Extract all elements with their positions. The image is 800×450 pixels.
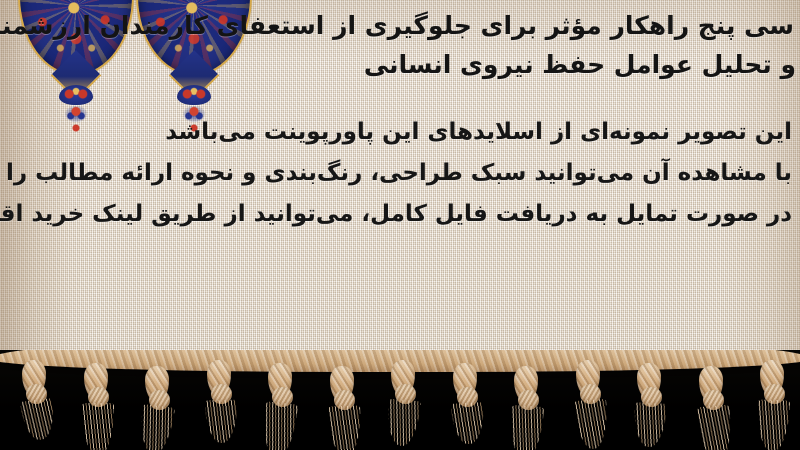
fringe-tassel: [508, 366, 548, 450]
fringe-tassel: [570, 360, 610, 446]
body-line-2: با مشاهده آن می‌توانید سبک طراحی، رنگ‌بن…: [4, 153, 792, 194]
slide-title: سی پنج راهکار مؤثر برای جلوگیری از استعف…: [0, 6, 796, 84]
fringe-tassel: [16, 360, 56, 446]
tassel-strands: [328, 405, 362, 450]
tassel-strands: [260, 401, 298, 450]
slide-body-text: این تصویر نمونه‌ای از اسلایدهای این پاور…: [4, 112, 792, 235]
slide-canvas: سی پنج راهکار مؤثر برای جلوگیری از استعف…: [0, 0, 800, 450]
fringe-tassel: [201, 360, 241, 446]
tassel-strands: [574, 399, 609, 450]
fringe-tassel: [262, 363, 302, 449]
tassel-strands: [451, 402, 485, 445]
fringe-tassel: [754, 360, 794, 446]
ornament-pendant-large-icon: [177, 85, 211, 105]
body-line-1: این تصویر نمونه‌ای از اسلایدهای این پاور…: [4, 112, 792, 153]
title-line-2: و تحلیل عوامل حفظ نیروی انسانی: [0, 45, 796, 84]
tassel-strands: [82, 403, 114, 450]
fringe-tassel: [78, 363, 118, 449]
tassel-strands: [508, 405, 544, 450]
fringe-tassel: [447, 363, 487, 449]
tassel-strands: [756, 399, 790, 450]
title-line-1: سی پنج راهکار مؤثر برای جلوگیری از استعف…: [0, 6, 794, 45]
fringe-tassel: [693, 366, 733, 450]
tassel-strands: [205, 400, 238, 444]
fringe-tassel: [139, 366, 179, 450]
tassel-strands: [385, 399, 421, 448]
fringe-tassel: [385, 360, 425, 446]
tassel-strands: [633, 402, 667, 448]
tassel-strands: [137, 404, 175, 450]
ornament-pendant-large-icon: [59, 85, 93, 105]
fringe-tassel: [324, 366, 364, 450]
tassel-strands: [697, 405, 734, 450]
tassel-strands: [20, 398, 57, 442]
body-line-3: در صورت تمایل به دریافت فایل کامل، می‌تو…: [4, 194, 792, 235]
fringe-tassel: [631, 363, 671, 449]
carpet-fringe: [0, 350, 800, 450]
